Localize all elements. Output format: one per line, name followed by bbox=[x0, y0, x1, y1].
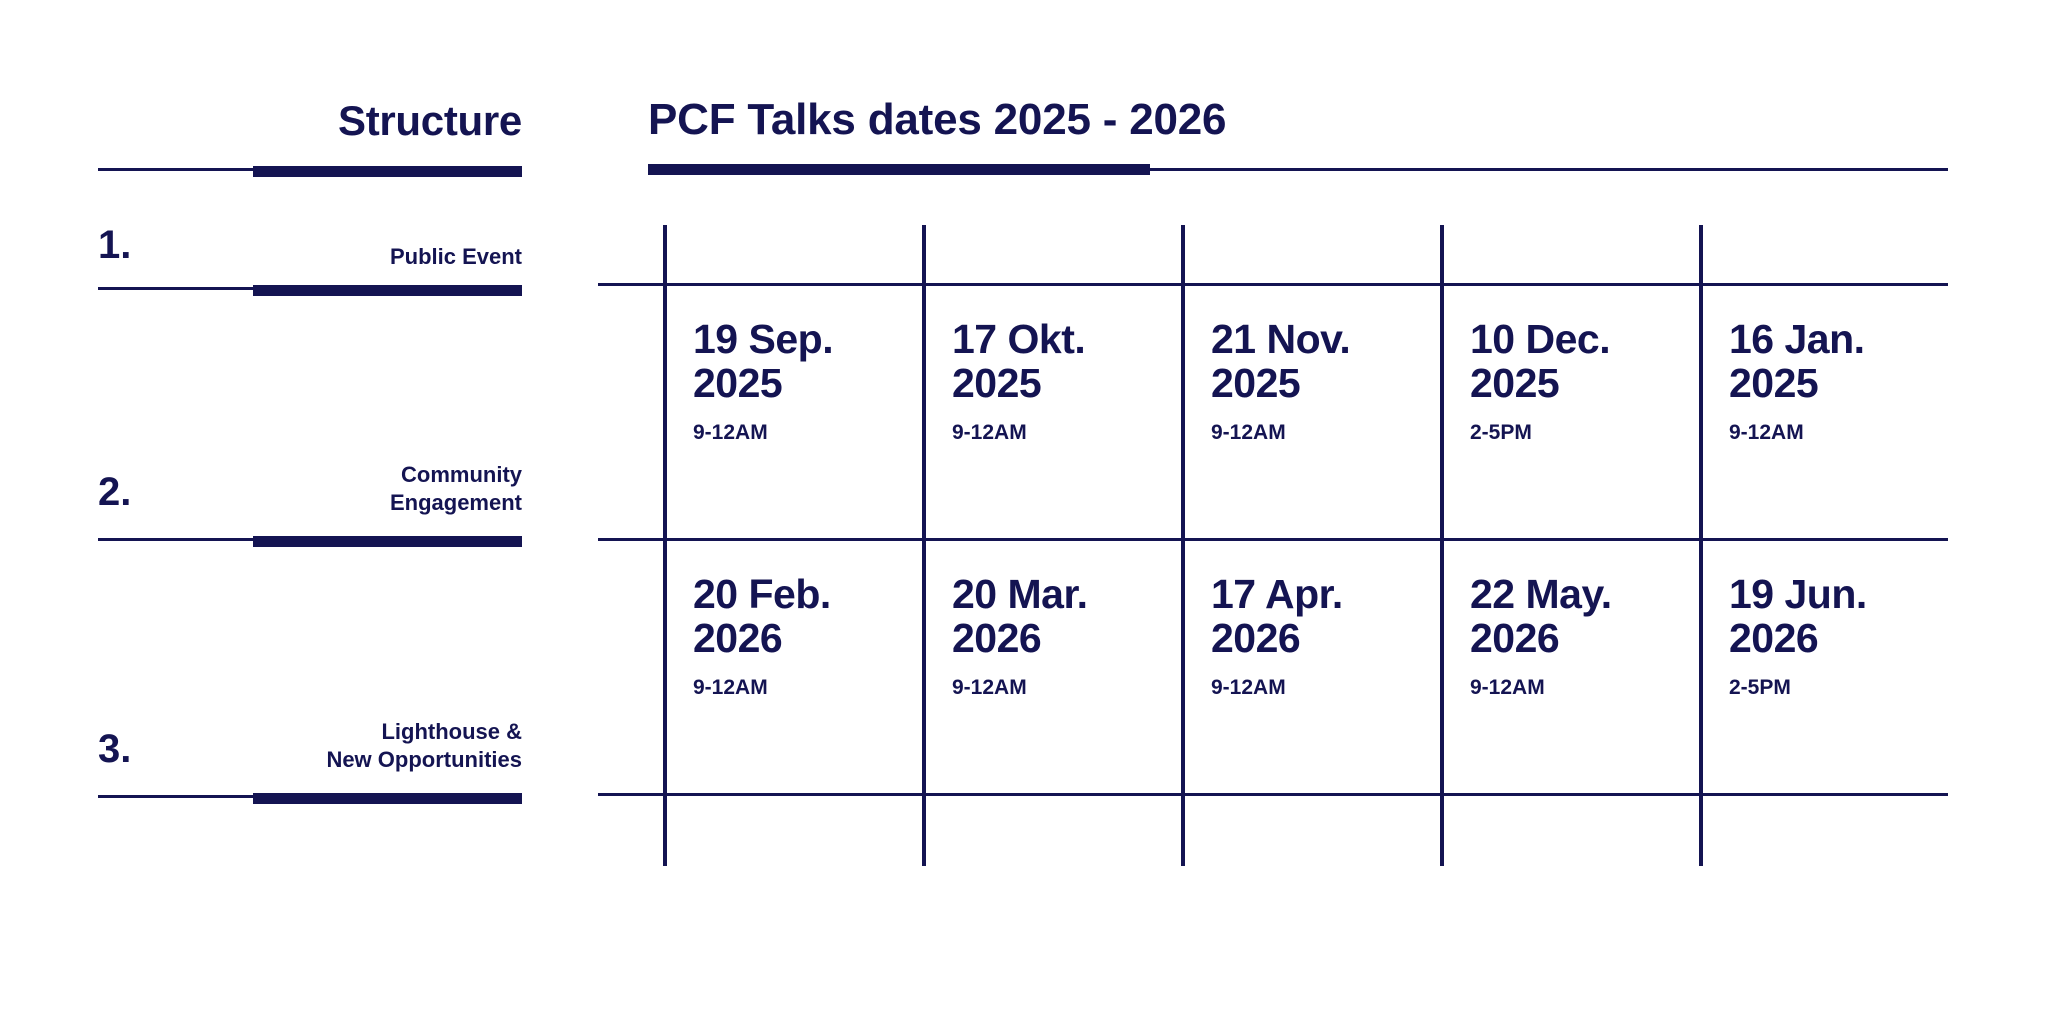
date-cell-date: 17 Apr.2026 bbox=[1211, 573, 1441, 661]
date-cell-date: 20 Feb.2026 bbox=[693, 573, 923, 661]
structure-item-2-rule-thick bbox=[253, 536, 522, 547]
structure-item-2-label: CommunityEngagement bbox=[200, 461, 522, 517]
structure-item-2-number: 2. bbox=[98, 472, 131, 512]
date-cell[interactable]: 19 Jun.2026 2-5PM bbox=[1729, 573, 1959, 698]
dates-heading-rule-thick bbox=[648, 164, 1150, 175]
date-cell[interactable]: 16 Jan.2025 9-12AM bbox=[1729, 318, 1959, 443]
grid-vline-1 bbox=[663, 225, 667, 866]
structure-item-3-rule-thin bbox=[98, 795, 253, 798]
structure-heading-rule-thin bbox=[98, 168, 253, 171]
structure-item-1-number: 1. bbox=[98, 225, 131, 265]
dates-heading: PCF Talks dates 2025 - 2026 bbox=[648, 98, 1226, 142]
structure-item-1-rule-thin bbox=[98, 287, 253, 290]
date-cell[interactable]: 20 Mar.2026 9-12AM bbox=[952, 573, 1182, 698]
structure-item-3-rule-thick bbox=[253, 793, 522, 804]
date-cell-date: 16 Jan.2025 bbox=[1729, 318, 1959, 406]
structure-item-2-rule-thin bbox=[98, 538, 253, 541]
structure-heading-rule-thick bbox=[253, 166, 522, 177]
slide-canvas: Structure 1. Public Event 2. CommunityEn… bbox=[0, 0, 2048, 1024]
date-cell-time: 9-12AM bbox=[1211, 677, 1441, 698]
structure-item-1-rule-thick bbox=[253, 285, 522, 296]
date-cell-date: 10 Dec.2025 bbox=[1470, 318, 1700, 406]
date-cell-time: 9-12AM bbox=[1470, 677, 1700, 698]
grid-hline-middle bbox=[598, 538, 1948, 541]
date-cell[interactable]: 17 Okt.2025 9-12AM bbox=[952, 318, 1182, 443]
date-cell[interactable]: 10 Dec.2025 2-5PM bbox=[1470, 318, 1700, 443]
date-cell-date: 20 Mar.2026 bbox=[952, 573, 1182, 661]
date-cell-time: 9-12AM bbox=[1729, 422, 1959, 443]
grid-hline-top bbox=[598, 283, 1948, 286]
structure-item-3-number: 3. bbox=[98, 729, 131, 769]
date-cell-time: 9-12AM bbox=[693, 422, 923, 443]
date-cell-time: 9-12AM bbox=[952, 422, 1182, 443]
grid-hline-bottom bbox=[598, 793, 1948, 796]
date-cell-time: 2-5PM bbox=[1470, 422, 1700, 443]
date-cell-date: 19 Jun.2026 bbox=[1729, 573, 1959, 661]
date-cell-time: 9-12AM bbox=[952, 677, 1182, 698]
date-cell[interactable]: 19 Sep.2025 9-12AM bbox=[693, 318, 923, 443]
date-cell[interactable]: 20 Feb.2026 9-12AM bbox=[693, 573, 923, 698]
date-cell-date: 17 Okt.2025 bbox=[952, 318, 1182, 406]
date-cell-date: 22 May.2026 bbox=[1470, 573, 1700, 661]
structure-item-1-label: Public Event bbox=[200, 243, 522, 271]
date-cell[interactable]: 17 Apr.2026 9-12AM bbox=[1211, 573, 1441, 698]
structure-heading: Structure bbox=[98, 100, 522, 142]
date-cell[interactable]: 22 May.2026 9-12AM bbox=[1470, 573, 1700, 698]
date-cell-time: 9-12AM bbox=[1211, 422, 1441, 443]
structure-item-3-label: Lighthouse &New Opportunities bbox=[200, 718, 522, 774]
date-cell-date: 21 Nov.2025 bbox=[1211, 318, 1441, 406]
date-cell-time: 2-5PM bbox=[1729, 677, 1959, 698]
date-cell[interactable]: 21 Nov.2025 9-12AM bbox=[1211, 318, 1441, 443]
date-cell-time: 9-12AM bbox=[693, 677, 923, 698]
date-cell-date: 19 Sep.2025 bbox=[693, 318, 923, 406]
